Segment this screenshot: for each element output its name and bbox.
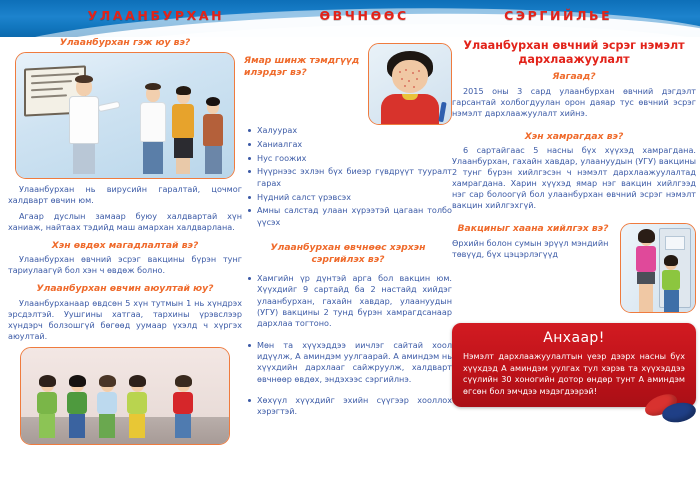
mid-section-2-heading: Улаанбурхан өвчнөөс хэрхэн сэргийлэх вэ?	[244, 242, 452, 265]
right-section-2-heading: Хэн хамрагдах вэ?	[452, 131, 696, 143]
header-banner: УЛААНБУРХАН ӨВЧНӨӨС СЭРГИЙЛЬЕ	[0, 0, 700, 37]
warning-body: Нэмэлт дархлаажуулалтын үеэр дээрх насны…	[463, 351, 685, 397]
left-section-1-paragraph-1: Улаанбурхан нь вирусийн гаралтай, цочмог…	[8, 184, 242, 206]
symptoms-list: Халуурах Ханиалгах Нус гоожих Нүүрнээс э…	[244, 125, 452, 228]
child-figure-2	[67, 378, 87, 438]
child-figure-3	[97, 378, 117, 438]
left-section-3-paragraph-1: Улаанбурханаар өвдсөн 5 хүн тутмын 1 нь …	[8, 298, 242, 342]
middle-column: Ямар шинж тэмдгүүд илэрдэг вэ?	[244, 37, 452, 424]
right-section-3-paragraph-1: Өрхийн болон сумын эрүүл мэндийн төвүүд,…	[452, 238, 614, 260]
left-section-3-heading: Улаанбурхан өвчин аюултай юу?	[8, 283, 242, 295]
prevention-list: Хамгийн үр дүнтэй арга бол вакцин юм. Хү…	[244, 273, 452, 418]
sick-child-illustration	[368, 43, 452, 125]
list-item: Хөхүүл хүүхдийг эхийн сүүгээр хооллох хэ…	[257, 395, 452, 418]
patient-figure-3	[198, 99, 228, 174]
child-figure-5	[173, 378, 193, 438]
banner-word-3: СЭРГИЙЛЬЕ	[504, 8, 612, 23]
mid-section-1-heading: Ямар шинж тэмдгүүд илэрдэг вэ?	[244, 55, 364, 78]
list-item: Амны салстад улаан хүрээтэй цагаан толбо…	[257, 205, 452, 228]
capsule-pills-icon	[640, 396, 700, 426]
boy-figure	[659, 257, 683, 312]
list-item: Нус гоожих	[257, 153, 452, 164]
list-item: Нүдний салст үрэвсэх	[257, 192, 452, 203]
warning-container: Анхаар! Нэмэлт дархлаажуулалтын үеэр дээ…	[452, 323, 696, 407]
child-figure-1	[37, 378, 57, 438]
left-section-2-paragraph-1: Улаанбурхан өвчний эсрэг вакцины бүрэн т…	[8, 254, 242, 276]
right-section-3-heading: Вакциныг хаана хийлгэх вэ?	[452, 223, 614, 235]
list-item: Нүүрнээс эхлэн бүх биеэр гүвдрүүт туурал…	[257, 166, 452, 189]
list-item: Ханиалгах	[257, 139, 452, 150]
measles-rash-dots	[392, 60, 428, 93]
patient-figure-2	[168, 88, 198, 174]
left-section-1-paragraph-2: Агаар дуслын замаар буюу халдвартай хүн …	[8, 211, 242, 233]
mother-figure	[631, 231, 661, 312]
left-section-1-heading: Улаанбурхан гэж юу вэ?	[8, 37, 242, 49]
banner-word-2: ӨВЧНӨӨС	[319, 8, 408, 23]
left-column: Улаанбурхан гэж юу вэ?	[8, 37, 242, 445]
clinic-illustration	[620, 223, 696, 313]
doctor-figure	[62, 77, 106, 174]
left-section-2-heading: Хэн өвдөх магадлалтай вэ?	[8, 240, 242, 252]
children-illustration	[20, 347, 230, 445]
right-column: Улаанбурхан өвчний эсрэг нэмэлт дархлааж…	[452, 37, 696, 407]
warning-title: Анхаар!	[463, 330, 685, 346]
right-section-1-paragraph-1: 2015 оны 3 сард улаанбурхан өвчний дэгдэ…	[452, 86, 696, 119]
banner-title: УЛААНБУРХАН ӨВЧНӨӨС СЭРГИЙЛЬЕ	[0, 0, 700, 30]
banner-word-1: УЛААНБУРХАН	[88, 8, 225, 23]
brochure-page: УЛААНБУРХАН ӨВЧНӨӨС СЭРГИЙЛЬЕ Улаанбурха…	[0, 0, 700, 495]
content-columns: Улаанбурхан гэж юу вэ?	[0, 37, 700, 495]
list-item: Мөн та хүүхэддээ иичлэг сайтай хоол идүү…	[257, 340, 452, 385]
list-item: Халуурах	[257, 125, 452, 136]
child-figure-4	[127, 378, 147, 438]
right-section-1-heading: Яагаад?	[452, 71, 696, 83]
child-face	[392, 60, 428, 93]
list-item: Хамгийн үр дүнтэй арга бол вакцин юм. Хү…	[257, 273, 452, 330]
patient-figure-1	[138, 85, 168, 174]
doctor-illustration	[15, 52, 235, 179]
right-column-title: Улаанбурхан өвчний эсрэг нэмэлт дархлааж…	[452, 39, 696, 66]
right-section-2-paragraph-1: 6 сартайгаас 5 насны бүх хүүхэд хамрагда…	[452, 145, 696, 211]
